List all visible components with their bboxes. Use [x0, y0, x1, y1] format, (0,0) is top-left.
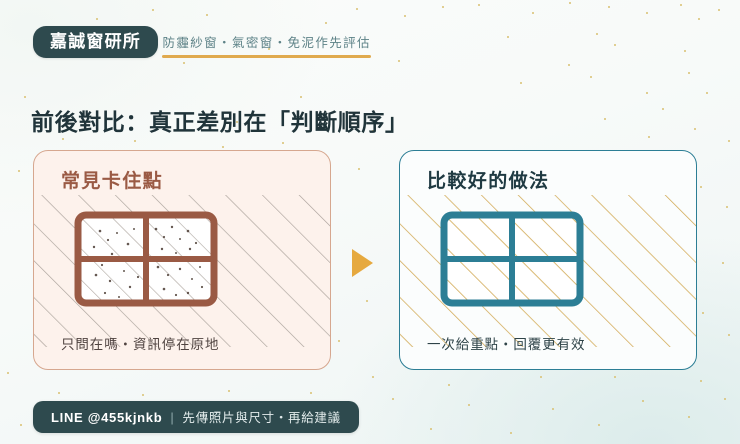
footer-note-label: 先傳照片與尺寸・再給建議: [182, 407, 340, 426]
card-after-title: 比較好的做法: [427, 166, 549, 193]
card-before: 常見卡住點: [33, 150, 331, 370]
footer-separator: |: [170, 410, 174, 425]
card-after: 比較好的做法 一次給重點・回覆更有效: [399, 150, 697, 370]
page-headline: 前後對比：真正差別在「判斷順序」: [31, 103, 409, 137]
infographic-canvas: 嘉誠窗研所 防霾紗窗・氣密窗・免泥作先評估 前後對比：真正差別在「判斷順序」 常…: [0, 0, 740, 444]
contact-footer-bar[interactable]: LINE @455kjnkb | 先傳照片與尺寸・再給建議: [33, 401, 359, 433]
card-before-caption: 只問在嗎・資訊停在原地: [61, 333, 219, 353]
dirty-window-icon: [72, 209, 220, 309]
brand-tagline-wrap: 防霾紗窗・氣密窗・免泥作先評估: [162, 35, 371, 53]
brand-tagline: 防霾紗窗・氣密窗・免泥作先評估: [162, 35, 371, 53]
line-id-label: LINE @455kjnkb: [51, 410, 162, 425]
card-after-caption: 一次給重點・回覆更有效: [427, 333, 585, 353]
card-before-title: 常見卡住點: [61, 166, 163, 193]
brand-header: 嘉誠窗研所 防霾紗窗・氣密窗・免泥作先評估: [33, 26, 453, 58]
brand-badge: 嘉誠窗研所: [33, 26, 158, 58]
tagline-underline: [162, 55, 371, 58]
arrow-right-icon: [352, 249, 373, 277]
clean-window-icon: [438, 209, 586, 309]
